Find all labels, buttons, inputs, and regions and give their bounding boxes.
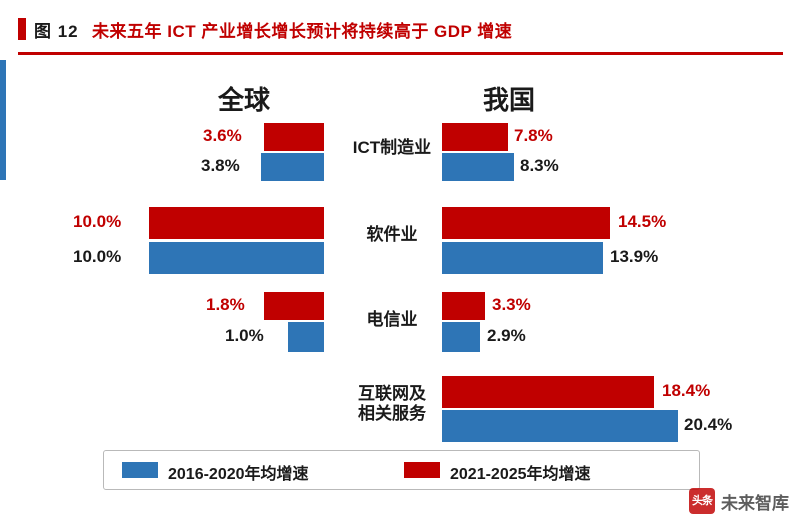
column-title-china: 我国	[483, 80, 535, 117]
bar-china-red-ict	[442, 123, 508, 151]
value-china-red-ict: 7.8%	[514, 126, 553, 146]
category-label-ict-manufacturing: ICT制造业	[332, 138, 452, 158]
chart-body: 全球 我国 ICT制造业 3.6% 3.8% 7.8% 8.3% 软件业 10.…	[18, 60, 783, 508]
bar-global-blue-software	[149, 242, 324, 274]
bar-global-red-ict	[264, 123, 324, 151]
legend-swatch-red	[404, 462, 440, 478]
value-china-blue-telecom: 2.9%	[487, 326, 526, 346]
bar-china-red-telecom	[442, 292, 485, 320]
header-divider	[18, 52, 783, 55]
bar-global-blue-telecom	[288, 322, 324, 352]
value-global-blue-telecom: 1.0%	[225, 326, 264, 346]
value-china-red-software: 14.5%	[618, 212, 666, 232]
bar-china-blue-ict	[442, 153, 514, 181]
value-global-blue-software: 10.0%	[73, 247, 121, 267]
category-label-software: 软件业	[332, 225, 452, 245]
value-global-red-software: 10.0%	[73, 212, 121, 232]
bar-china-red-internet	[442, 376, 654, 408]
legend-swatch-blue	[122, 462, 158, 478]
bar-china-blue-software	[442, 242, 603, 274]
bar-global-red-telecom	[264, 292, 324, 320]
figure-label: 图 12	[34, 17, 79, 42]
figure-header: 图 12 未来五年 ICT 产业增长增长预计将持续高于 GDP 增速	[0, 0, 801, 56]
value-china-blue-ict: 8.3%	[520, 156, 559, 176]
value-china-blue-software: 13.9%	[610, 247, 658, 267]
category-label-internet: 互联网及 相关服务	[332, 384, 452, 423]
chart-legend: 2016-2020年均增速 2021-2025年均增速	[103, 450, 700, 490]
category-label-internet-line2: 相关服务	[332, 404, 452, 424]
bar-china-red-software	[442, 207, 610, 239]
left-accent-tab	[0, 60, 6, 180]
category-label-telecom: 电信业	[332, 310, 452, 330]
figure-title: 未来五年 ICT 产业增长增长预计将持续高于 GDP 增速	[92, 17, 512, 42]
legend-label-2016-2020: 2016-2020年均增速	[168, 460, 309, 484]
value-global-blue-ict: 3.8%	[201, 156, 240, 176]
bar-global-blue-ict	[261, 153, 324, 181]
bar-global-red-software	[149, 207, 324, 239]
watermark-text: 未来智库	[721, 489, 789, 514]
chart-page: 图 12 未来五年 ICT 产业增长增长预计将持续高于 GDP 增速 全球 我国…	[0, 0, 801, 524]
legend-label-2021-2025: 2021-2025年均增速	[450, 460, 591, 484]
header-accent-bar	[18, 18, 26, 40]
value-china-red-internet: 18.4%	[662, 381, 710, 401]
watermark: 头条 未来智库	[689, 488, 789, 514]
value-global-red-ict: 3.6%	[203, 126, 242, 146]
value-global-red-telecom: 1.8%	[206, 295, 245, 315]
column-title-global: 全球	[218, 80, 270, 117]
bar-china-blue-internet	[442, 410, 678, 442]
value-china-red-telecom: 3.3%	[492, 295, 531, 315]
watermark-logo: 头条	[689, 488, 715, 514]
bar-china-blue-telecom	[442, 322, 480, 352]
category-label-internet-line1: 互联网及	[332, 384, 452, 404]
value-china-blue-internet: 20.4%	[684, 415, 732, 435]
